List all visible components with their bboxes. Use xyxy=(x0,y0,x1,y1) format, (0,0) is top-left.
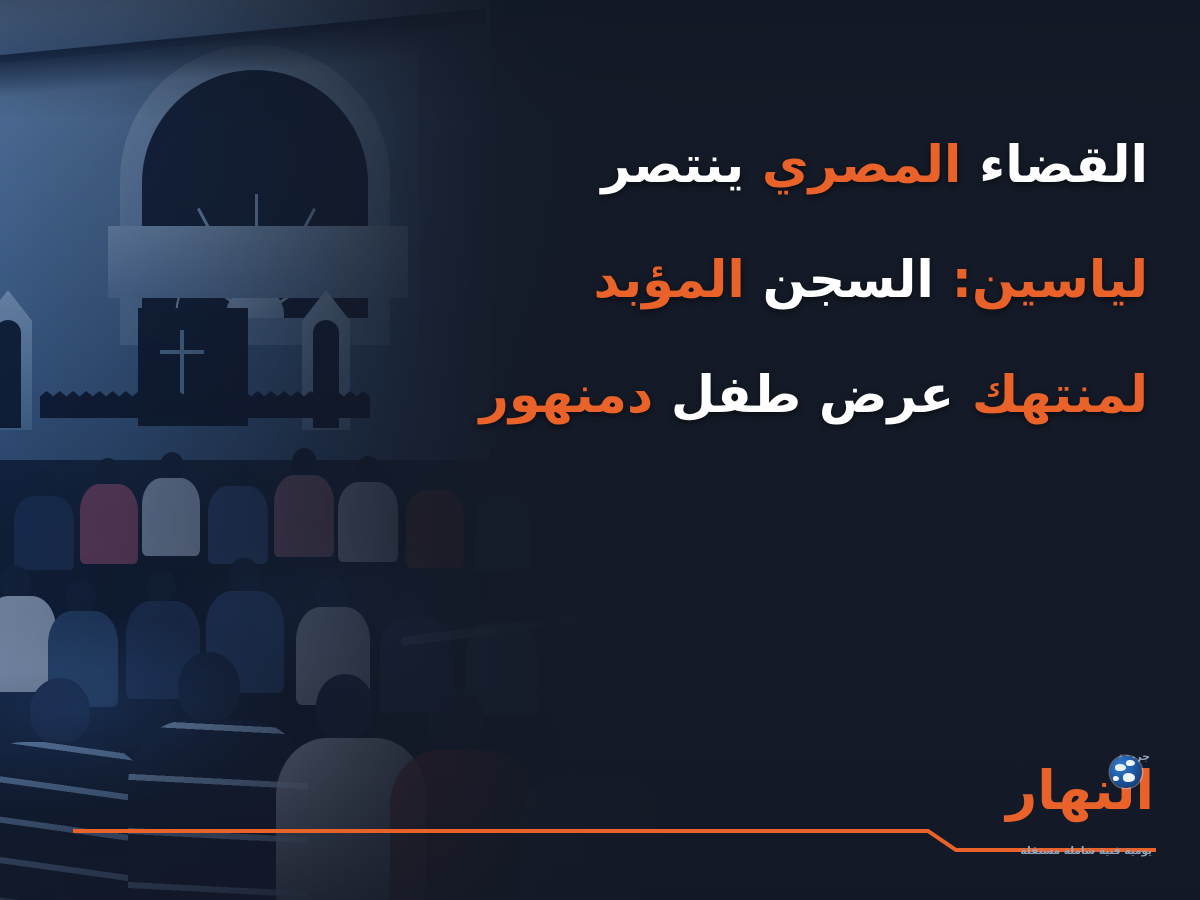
headline-segment: ينتصر xyxy=(601,136,744,195)
logo-tagline: يومية فنية شاملة مستقلة xyxy=(1020,845,1152,857)
news-card: القضاء المصري ينتصر لياسين: السجن المؤبد… xyxy=(0,0,1200,900)
headline-segment: لياسين: xyxy=(952,251,1148,310)
globe-icon xyxy=(1110,756,1142,788)
headline-segment: القضاء xyxy=(979,136,1148,195)
globe-landmass xyxy=(1113,776,1119,781)
globe-landmass xyxy=(1126,760,1135,766)
globe-landmass xyxy=(1123,773,1135,782)
dark-overlay-top xyxy=(0,0,1200,120)
headline-line-3: لمنتهك عرض طفل دمنهور xyxy=(488,338,1148,453)
headline-segment: السجن xyxy=(763,251,934,310)
headline-segment: دمنهور xyxy=(480,366,654,425)
headline-segment: المؤبد xyxy=(593,251,744,310)
headline-segment: عرض طفل xyxy=(671,366,954,425)
headline: القضاء المصري ينتصر لياسين: السجن المؤبد… xyxy=(488,108,1148,453)
headline-line-2: لياسين: السجن المؤبد xyxy=(488,223,1148,338)
headline-line-1: القضاء المصري ينتصر xyxy=(488,108,1148,223)
logo[interactable]: جريدة النهار يومية فنية شاملة مستقلة xyxy=(884,750,1154,855)
headline-segment: المصري xyxy=(762,136,962,195)
globe-landmass xyxy=(1115,764,1126,771)
headline-segment: لمنتهك xyxy=(972,366,1148,425)
